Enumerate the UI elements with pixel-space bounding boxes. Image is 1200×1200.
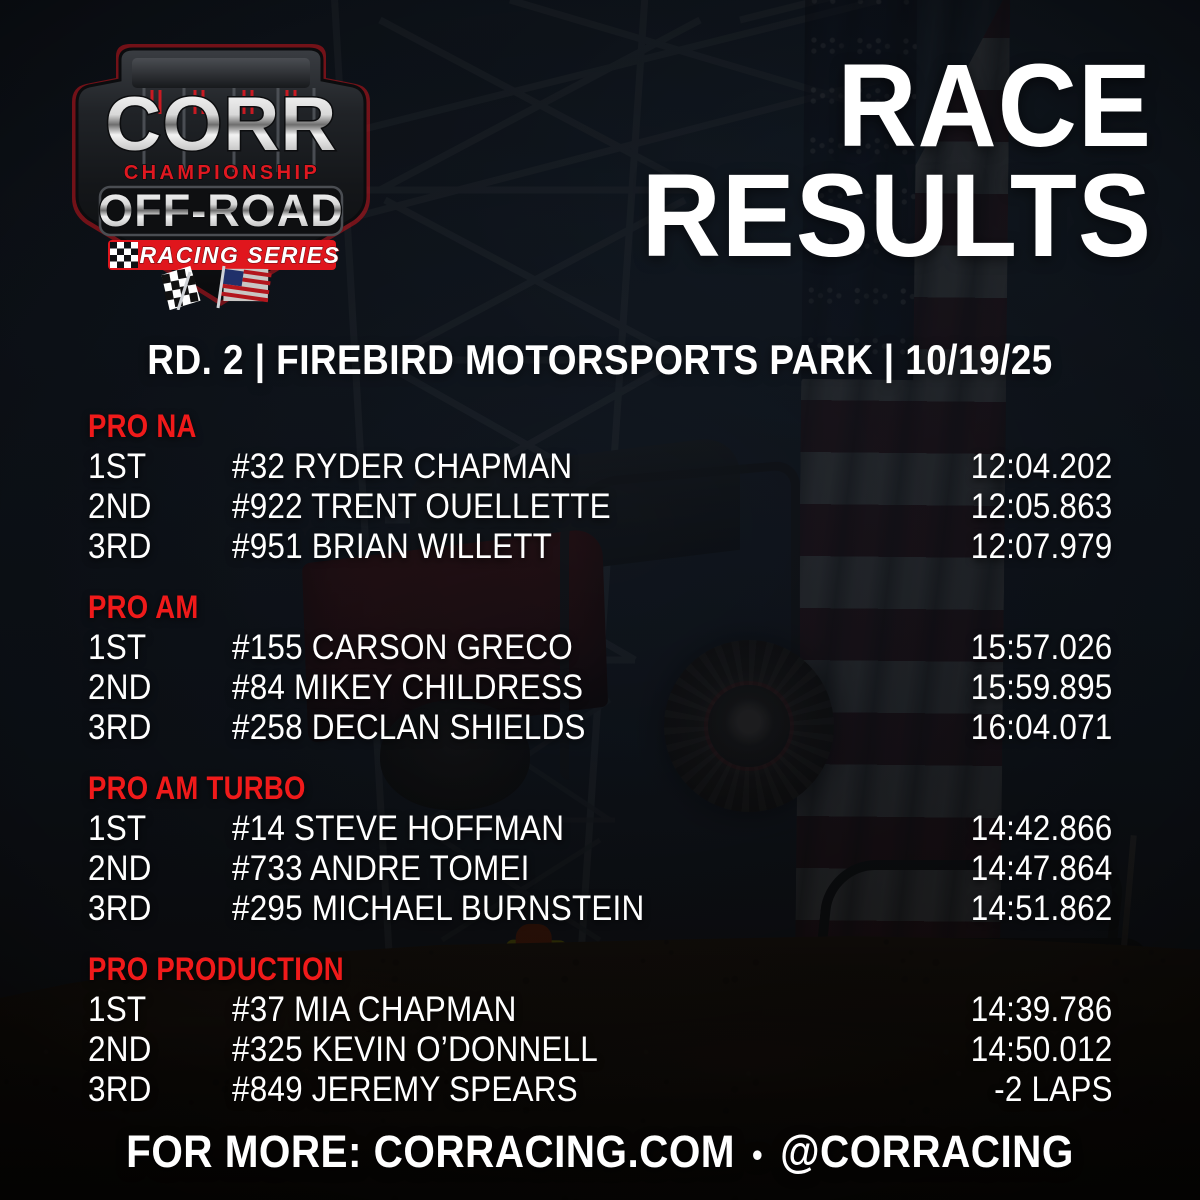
table-row: 1ST #155 CARSON GRECO 15:57.026 (0, 628, 1200, 668)
table-row: 3RD #295 MICHAEL BURNSTEIN 14:51.862 (0, 889, 1200, 929)
table-row: 2ND #733 ANDRE TOMEI 14:47.864 (0, 849, 1200, 889)
row-time: 14:47.864 (971, 849, 1113, 889)
row-position: 1ST (88, 447, 146, 487)
footer-prefix: FOR MORE: (126, 1126, 362, 1177)
row-time: 15:57.026 (971, 628, 1113, 668)
class-block-pro-production: PRO PRODUCTION 1ST #37 MIA CHAPMAN 14:39… (0, 951, 1200, 1110)
class-block-pro-am-turbo: PRO AM TURBO 1ST #14 STEVE HOFFMAN 14:42… (0, 770, 1200, 929)
row-time: 12:05.863 (971, 487, 1113, 527)
row-position: 2ND (88, 1030, 152, 1070)
footer-social[interactable]: @CORRACING (780, 1126, 1074, 1177)
title-line-race: RACE (501, 52, 1152, 162)
race-results-poster: CORR CHAMPIONSHIP OFF-ROAD (0, 0, 1200, 1200)
row-driver: #155 CARSON GRECO (232, 628, 573, 668)
class-block-pro-na: PRO NA 1ST #32 RYDER CHAPMAN 12:04.202 2… (0, 408, 1200, 567)
svg-text:RACING SERIES: RACING SERIES (140, 242, 341, 268)
table-row: 1ST #32 RYDER CHAPMAN 12:04.202 (0, 447, 1200, 487)
row-driver: #258 DECLAN SHIELDS (232, 708, 586, 748)
row-driver: #733 ANDRE TOMEI (232, 849, 530, 889)
row-position: 3RD (88, 1070, 152, 1110)
table-row: 2ND #325 KEVIN O’DONNELL 14:50.012 (0, 1030, 1200, 1070)
class-title: PRO NA (88, 408, 1044, 445)
row-position: 3RD (88, 527, 152, 567)
class-title: PRO AM TURBO (88, 770, 1044, 807)
row-driver: #84 MIKEY CHILDRESS (232, 668, 583, 708)
row-driver: #922 TRENT OUELLETTE (232, 487, 611, 527)
footer-website[interactable]: CORRACING.COM (374, 1126, 735, 1177)
table-row: 3RD #258 DECLAN SHIELDS 16:04.071 (0, 708, 1200, 748)
row-time: 14:51.862 (971, 889, 1113, 929)
bullet-separator-icon: • (747, 1136, 769, 1173)
row-position: 1ST (88, 990, 146, 1030)
class-title: PRO PRODUCTION (88, 951, 1044, 988)
row-time: 14:39.786 (971, 990, 1113, 1030)
row-position: 1ST (88, 809, 146, 849)
row-time: 14:50.012 (971, 1030, 1113, 1070)
page-title: RACE RESULTS (452, 52, 1152, 271)
table-row: 2ND #922 TRENT OUELLETTE 12:05.863 (0, 487, 1200, 527)
row-time: 12:07.979 (971, 527, 1113, 567)
row-driver: #14 STEVE HOFFMAN (232, 809, 564, 849)
event-subtitle: RD. 2 | FIREBIRD MOTORSPORTS PARK | 10/1… (72, 336, 1128, 384)
poster-content: CORR CHAMPIONSHIP OFF-ROAD (0, 0, 1200, 1200)
row-time: 16:04.071 (971, 708, 1113, 748)
table-row: 3RD #951 BRIAN WILLETT 12:07.979 (0, 527, 1200, 567)
results-list: PRO NA 1ST #32 RYDER CHAPMAN 12:04.202 2… (0, 408, 1200, 1132)
row-position: 3RD (88, 708, 152, 748)
row-position: 2ND (88, 487, 152, 527)
row-time: 12:04.202 (971, 447, 1113, 487)
table-row: 2ND #84 MIKEY CHILDRESS 15:59.895 (0, 668, 1200, 708)
row-position: 3RD (88, 889, 152, 929)
row-position: 2ND (88, 849, 152, 889)
table-row: 1ST #37 MIA CHAPMAN 14:39.786 (0, 990, 1200, 1030)
title-line-results: RESULTS (501, 162, 1152, 272)
row-position: 1ST (88, 628, 146, 668)
svg-text:CORR: CORR (105, 83, 337, 167)
row-time: 15:59.895 (971, 668, 1113, 708)
row-driver: #325 KEVIN O’DONNELL (232, 1030, 598, 1070)
row-driver: #32 RYDER CHAPMAN (232, 447, 572, 487)
corr-logo: CORR CHAMPIONSHIP OFF-ROAD (56, 22, 386, 310)
svg-text:OFF-ROAD: OFF-ROAD (98, 185, 343, 236)
class-block-pro-am: PRO AM 1ST #155 CARSON GRECO 15:57.026 2… (0, 589, 1200, 748)
row-driver: #37 MIA CHAPMAN (232, 990, 517, 1030)
row-driver: #951 BRIAN WILLETT (232, 527, 552, 567)
table-row: 3RD #849 JEREMY SPEARS -2 LAPS (0, 1070, 1200, 1110)
row-position: 2ND (88, 668, 152, 708)
footer-cta: FOR MORE: CORRACING.COM • @CORRACING (60, 1126, 1140, 1178)
class-title: PRO AM (88, 589, 1044, 626)
row-time: -2 LAPS (994, 1070, 1113, 1110)
row-driver: #849 JEREMY SPEARS (232, 1070, 578, 1110)
row-driver: #295 MICHAEL BURNSTEIN (232, 889, 644, 929)
svg-text:CHAMPIONSHIP: CHAMPIONSHIP (124, 162, 320, 184)
row-time: 14:42.866 (971, 809, 1113, 849)
table-row: 1ST #14 STEVE HOFFMAN 14:42.866 (0, 809, 1200, 849)
